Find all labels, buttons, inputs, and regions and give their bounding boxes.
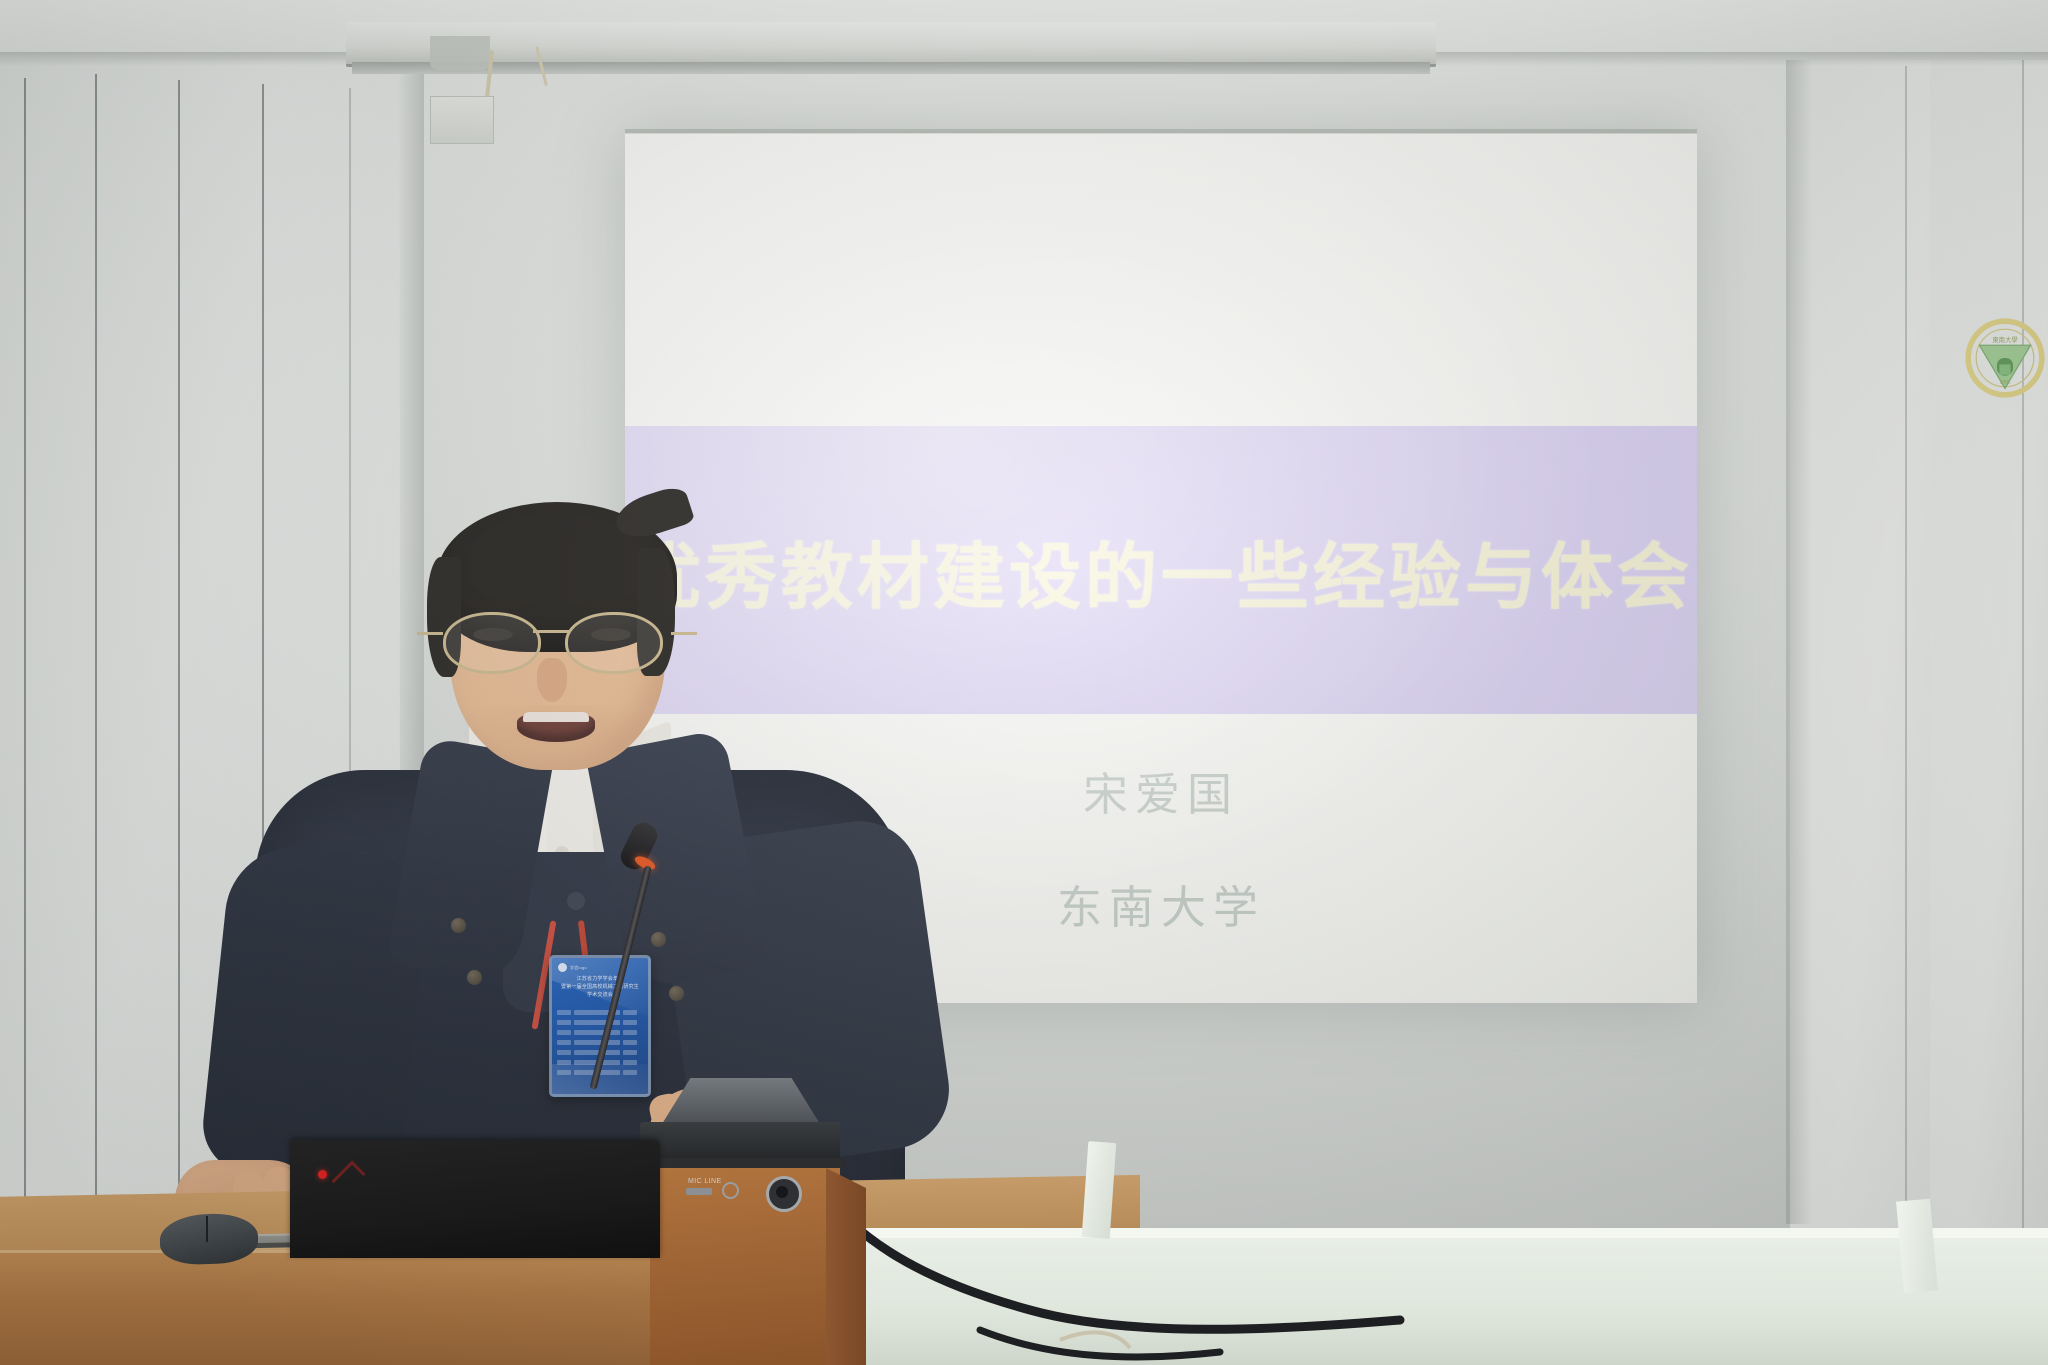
wall-seam	[178, 80, 180, 1230]
mic-base-foot	[634, 1158, 846, 1168]
housing-underside	[352, 62, 1430, 74]
wooden-riser-block-side	[826, 1168, 866, 1365]
mic-usb-port	[686, 1188, 712, 1195]
mic-base-label: MIC LINE	[688, 1178, 722, 1185]
thinkpad-indicator-icon	[318, 1170, 327, 1179]
wall-seam	[95, 74, 97, 1229]
mic-base-cone	[662, 1078, 820, 1124]
xlr-connector	[766, 1176, 802, 1212]
badge-row	[557, 1010, 643, 1015]
wall-seam	[1905, 66, 1907, 1356]
housing-end-cap	[430, 36, 490, 70]
eyebrow-left	[467, 600, 521, 608]
glasses-temple-right	[671, 632, 697, 635]
badge-row	[557, 1020, 643, 1025]
wall-corner-shadow	[1786, 24, 1812, 1224]
svg-text:1902: 1902	[1999, 381, 2010, 386]
headphone-jack-icon	[722, 1182, 739, 1199]
microphone-base-unit: MIC LINE	[640, 1078, 840, 1166]
jacket-snap-button	[669, 986, 684, 1001]
university-logo: 東南大學 1902 東南大學 SOUTHEAST UNIVERSITY	[1965, 309, 2048, 407]
nose	[537, 658, 567, 702]
lens-left	[443, 612, 541, 674]
eyebrow-right	[585, 600, 639, 608]
badge-row	[557, 1030, 643, 1035]
thinkpad-logo-icon	[332, 1161, 366, 1195]
teeth	[523, 712, 589, 722]
vest-button	[567, 892, 585, 910]
jacket-snap-button	[451, 918, 466, 933]
microphone-cable	[800, 1180, 1700, 1365]
speaker-affiliation: 东南大学	[1057, 871, 1265, 936]
svg-text:東南大學: 東南大學	[1992, 335, 2018, 344]
glasses-temple-left	[417, 632, 443, 635]
wall-seam	[24, 78, 26, 1228]
screen-top-edge	[625, 129, 1697, 134]
laptop-lid	[290, 1140, 660, 1258]
jacket-left-sleeve	[198, 840, 431, 1189]
jacket-snap-button	[651, 932, 666, 947]
projector-screen-housing	[346, 22, 1436, 67]
right-wall-panel-far	[1930, 20, 2048, 1365]
glasses-bridge	[533, 630, 569, 633]
jacket-snap-button	[467, 970, 482, 985]
mouse-button-split	[206, 1216, 208, 1242]
computer-mouse[interactable]	[160, 1212, 258, 1265]
wooden-riser-block	[650, 1155, 840, 1365]
southeast-university-crest-icon: 東南大學 1902	[1965, 318, 2045, 398]
wall-mounted-box	[430, 96, 494, 144]
speaker-name: 宋爱国	[1083, 758, 1239, 823]
laptop[interactable]	[290, 1140, 660, 1260]
lens-right	[565, 612, 663, 674]
lecture-hall-photo: 東南大學 1902 東南大學 SOUTHEAST UNIVERSITY 优秀教材…	[0, 0, 2048, 1365]
wall-seam	[2022, 60, 2024, 1360]
conference-badge: 学会logo 江苏省力学学会年会 暨第一届全国高校机械工程研究生 学术交流会	[549, 955, 651, 1097]
